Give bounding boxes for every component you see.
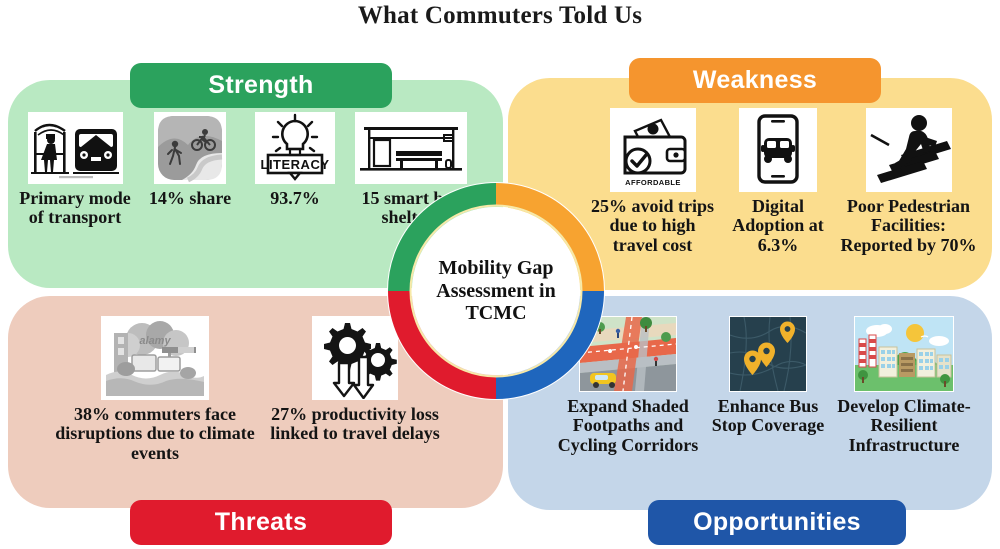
- affordable-wallet-icon: AFFORDABLE: [610, 108, 696, 192]
- list-item: alamy 38% commuters face disruptions due…: [50, 316, 260, 463]
- list-item-caption: 38% commuters face disruptions due to cl…: [50, 405, 260, 463]
- infographic-canvas: What Commuters Told Us: [0, 0, 1000, 549]
- cycling-path-icon: [154, 112, 226, 184]
- list-item-caption: 27% productivity loss linked to travel d…: [260, 405, 450, 444]
- category-bar-strength[interactable]: Strength: [130, 63, 392, 108]
- smart-bus-shelter-icon: [355, 112, 467, 184]
- list-item-caption: Primary mode of transport: [14, 189, 136, 228]
- list-item: AFFORDABLE 25% avoid trips due to high t…: [585, 108, 720, 255]
- literacy-lightbulb-icon: LITERACY: [255, 112, 335, 184]
- list-item-caption: Expand Shaded Footpaths and Cycling Corr…: [548, 397, 708, 455]
- pedestrian-crossing-icon: [866, 108, 952, 192]
- green-city-icon: [854, 316, 954, 392]
- map-location-pins-icon: [729, 316, 807, 392]
- category-bar-weakness[interactable]: Weakness: [629, 58, 881, 103]
- list-item: Digital Adoption at 6.3%: [720, 108, 836, 255]
- page-title: What Commuters Told Us: [0, 2, 1000, 30]
- mobile-bus-app-icon: [739, 108, 817, 192]
- list-item: Poor Pedestrian Facilities: Reported by …: [836, 108, 981, 255]
- bus-stop-and-bus-icon: [28, 112, 123, 184]
- center-label: Mobility Gap Assessment in TCMC: [412, 257, 580, 325]
- gears-down-arrows-icon: [312, 316, 398, 400]
- items-weakness: AFFORDABLE 25% avoid trips due to high t…: [585, 108, 985, 255]
- list-item: Develop Climate-Resilient Infrastructure: [828, 316, 980, 455]
- category-bar-opportunities[interactable]: Opportunities: [648, 500, 906, 545]
- list-item: LITERACY 93.7%: [244, 112, 346, 208]
- flooded-street-icon: alamy: [101, 316, 209, 400]
- svg-text:AFFORDABLE: AFFORDABLE: [625, 178, 681, 187]
- items-opportunities: Expand Shaded Footpaths and Cycling Corr…: [548, 316, 988, 455]
- list-item-caption: Digital Adoption at 6.3%: [720, 197, 836, 255]
- list-item-caption: 25% avoid trips due to high travel cost: [585, 197, 720, 255]
- list-item-caption: 93.7%: [270, 189, 320, 208]
- center-donut: Mobility Gap Assessment in TCMC: [387, 182, 605, 400]
- list-item-caption: Develop Climate-Resilient Infrastructure: [828, 397, 980, 455]
- list-item-caption: Enhance Bus Stop Coverage: [708, 397, 828, 436]
- svg-text:alamy: alamy: [139, 335, 171, 347]
- list-item: Enhance Bus Stop Coverage: [708, 316, 828, 436]
- list-item-caption: Poor Pedestrian Facilities: Reported by …: [836, 197, 981, 255]
- list-item: 14% share: [136, 112, 244, 208]
- center-label-wrap: Mobility Gap Assessment in TCMC: [412, 207, 580, 375]
- list-item-caption: 14% share: [149, 189, 231, 208]
- svg-text:LITERACY: LITERACY: [261, 157, 330, 172]
- list-item: Primary mode of transport: [14, 112, 136, 228]
- category-bar-threats[interactable]: Threats: [130, 500, 392, 545]
